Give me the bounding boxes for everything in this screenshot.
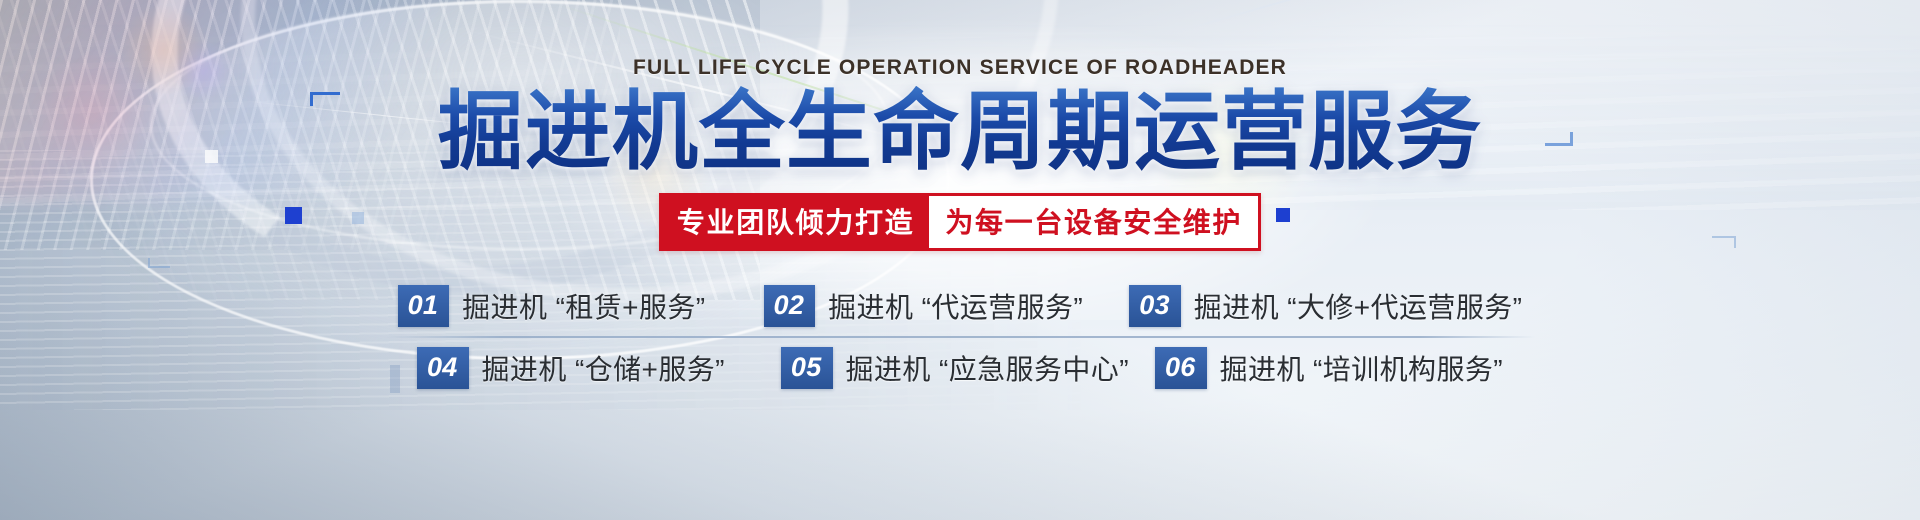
banner-content: FULL LIFE CYCLE OPERATION SERVICE OF ROA… (0, 0, 1920, 520)
banner-headline: 掘进机全生命周期运营服务 (438, 86, 1482, 179)
service-row-1: 01 掘进机 “租赁+服务” 02 掘进机 “代运营服务” 03 掘进机 “大修… (346, 279, 1574, 333)
service-number-badge: 04 (417, 347, 469, 389)
service-number-badge: 06 (1155, 347, 1207, 389)
service-item-01[interactable]: 01 掘进机 “租赁+服务” (398, 285, 706, 327)
service-item-06[interactable]: 06 掘进机 “培训机构服务” (1155, 347, 1503, 389)
service-row-2: 04 掘进机 “仓储+服务” 05 掘进机 “应急服务中心” 06 掘进机 “培… (346, 341, 1574, 395)
service-item-04[interactable]: 04 掘进机 “仓储+服务” (417, 347, 725, 389)
service-label: 掘进机 “租赁+服务” (462, 286, 705, 326)
service-label: 掘进机 “代运营服务” (828, 286, 1083, 326)
service-item-02[interactable]: 02 掘进机 “代运营服务” (764, 285, 1084, 327)
service-label: 掘进机 “大修+代运营服务” (1194, 286, 1523, 326)
service-list-divider (385, 336, 1535, 338)
service-item-05[interactable]: 05 掘进机 “应急服务中心” (781, 347, 1129, 389)
service-item-03[interactable]: 03 掘进机 “大修+代运营服务” (1129, 285, 1522, 327)
service-label: 掘进机 “仓储+服务” (482, 348, 725, 388)
red-badge-left-text: 专业团队倾力打造 (662, 196, 929, 248)
service-number-badge: 02 (764, 285, 816, 327)
service-number-badge: 05 (781, 347, 833, 389)
red-badge-right-text: 为每一台设备安全维护 (929, 196, 1258, 248)
banner-red-badge: 专业团队倾力打造 为每一台设备安全维护 (659, 193, 1261, 251)
service-number-badge: 03 (1129, 285, 1181, 327)
promo-banner: FULL LIFE CYCLE OPERATION SERVICE OF ROA… (0, 0, 1920, 520)
service-list: 01 掘进机 “租赁+服务” 02 掘进机 “代运营服务” 03 掘进机 “大修… (346, 279, 1574, 395)
service-label: 掘进机 “应急服务中心” (846, 348, 1129, 388)
service-number-badge: 01 (398, 285, 450, 327)
banner-eyebrow-english: FULL LIFE CYCLE OPERATION SERVICE OF ROA… (633, 56, 1287, 80)
service-label: 掘进机 “培训机构服务” (1220, 348, 1503, 388)
